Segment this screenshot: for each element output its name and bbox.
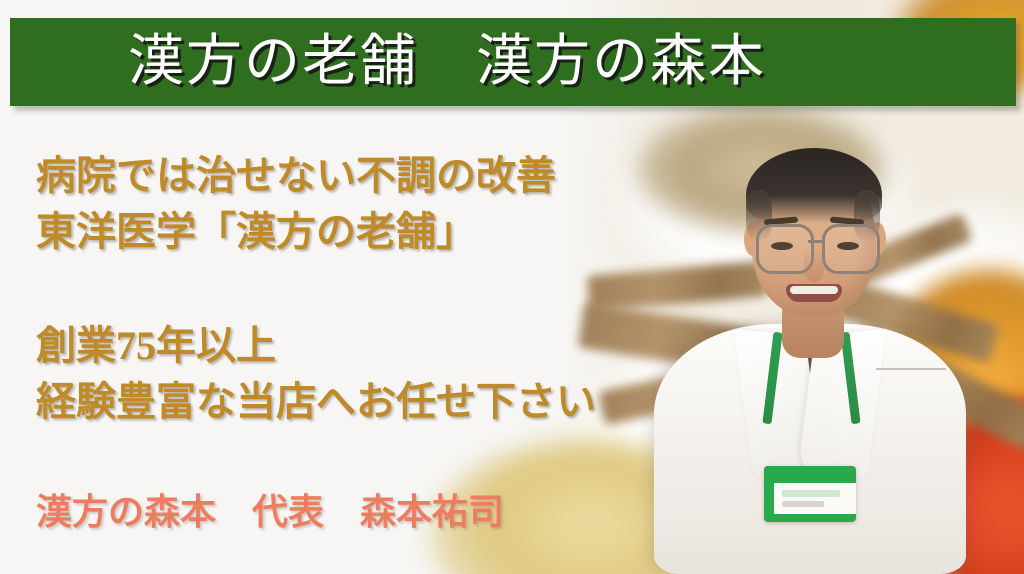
promo-slide: 漢方の老舗 漢方の森本 病院では治せない不調の改善 東洋医学「漢方の老舗」 創業… xyxy=(0,0,1024,574)
id-badge-bottom-band xyxy=(764,514,856,522)
subject-person xyxy=(640,118,980,574)
copy-block-history: 創業75年以上 経験豊富な当店へお任せ下さい xyxy=(36,318,596,430)
copy-line: 東洋医学「漢方の老舗」 xyxy=(36,204,556,260)
copy-line: 経験豊富な当店へお任せ下さい xyxy=(36,374,596,430)
eyeglasses-lens-right xyxy=(822,224,880,274)
copy-line: 病院では治せない不調の改善 xyxy=(36,148,556,204)
id-badge xyxy=(764,466,856,522)
eyeglasses-bridge xyxy=(808,240,822,243)
copy-block-problem: 病院では治せない不調の改善 東洋医学「漢方の老舗」 xyxy=(36,148,556,260)
mouth xyxy=(786,284,842,302)
copy-line: 創業75年以上 xyxy=(36,318,596,374)
signature-line: 漢方の森本 代表 森本祐司 xyxy=(36,488,504,536)
teeth xyxy=(790,286,838,294)
copy-block-signature: 漢方の森本 代表 森本祐司 xyxy=(36,488,504,536)
nose xyxy=(804,248,824,282)
banner-title-text: 漢方の老舗 漢方の森本 xyxy=(128,34,766,90)
id-badge-text-line-1 xyxy=(782,490,840,497)
title-banner: 漢方の老舗 漢方の森本 xyxy=(10,18,1016,106)
id-badge-top-band xyxy=(764,466,856,483)
id-badge-text-line-2 xyxy=(782,501,824,507)
